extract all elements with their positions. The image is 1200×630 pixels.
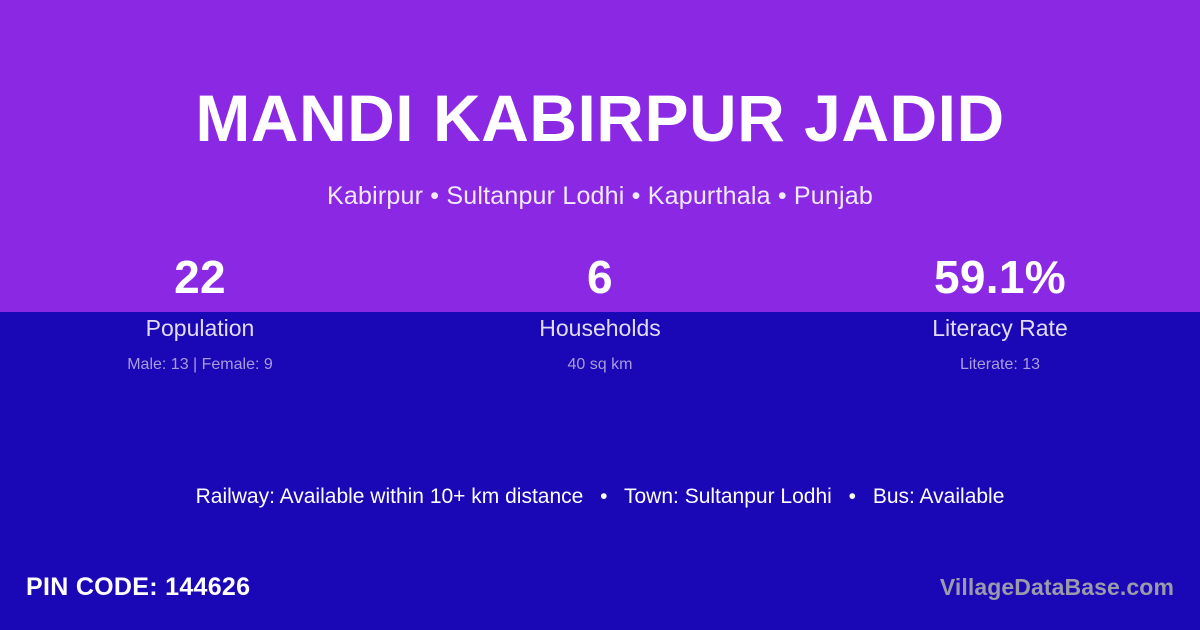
stat-literacy-rate: 59.1% Literacy Rate Literate: 13	[800, 246, 1200, 376]
stats-row: 22 Population Male: 13 | Female: 9 6 Hou…	[0, 246, 1200, 376]
village-info-card: MANDI KABIRPUR JADID Kabirpur • Sultanpu…	[0, 0, 1200, 630]
stat-value-population: 22	[0, 246, 400, 308]
stat-label-households: Households	[400, 314, 800, 344]
infra-railway: Railway: Available within 10+ km distanc…	[196, 485, 584, 508]
stat-label-population: Population	[0, 314, 400, 344]
infra-bus: Bus: Available	[873, 485, 1005, 508]
stat-value-literacy-rate: 59.1%	[800, 246, 1200, 308]
page-title: MANDI KABIRPUR JADID	[0, 84, 1200, 153]
stat-label-literacy-rate: Literacy Rate	[800, 314, 1200, 344]
stat-sub-population: Male: 13 | Female: 9	[0, 355, 400, 376]
infra-town: Town: Sultanpur Lodhi	[624, 485, 832, 508]
site-watermark: VillageDataBase.com	[940, 574, 1174, 601]
infrastructure-line: Railway: Available within 10+ km distanc…	[0, 485, 1200, 509]
infra-separator-dot: •	[589, 485, 618, 509]
infra-separator-dot: •	[838, 485, 867, 509]
breadcrumb: Kabirpur • Sultanpur Lodhi • Kapurthala …	[0, 182, 1200, 211]
stat-value-households: 6	[400, 246, 800, 308]
stat-sub-literacy-rate: Literate: 13	[800, 355, 1200, 376]
stat-households: 6 Households 40 sq km	[400, 246, 800, 376]
stat-population: 22 Population Male: 13 | Female: 9	[0, 246, 400, 376]
stat-sub-households: 40 sq km	[400, 355, 800, 376]
footer: PIN CODE: 144626 VillageDataBase.com	[0, 558, 1200, 630]
pin-code: PIN CODE: 144626	[26, 573, 250, 602]
